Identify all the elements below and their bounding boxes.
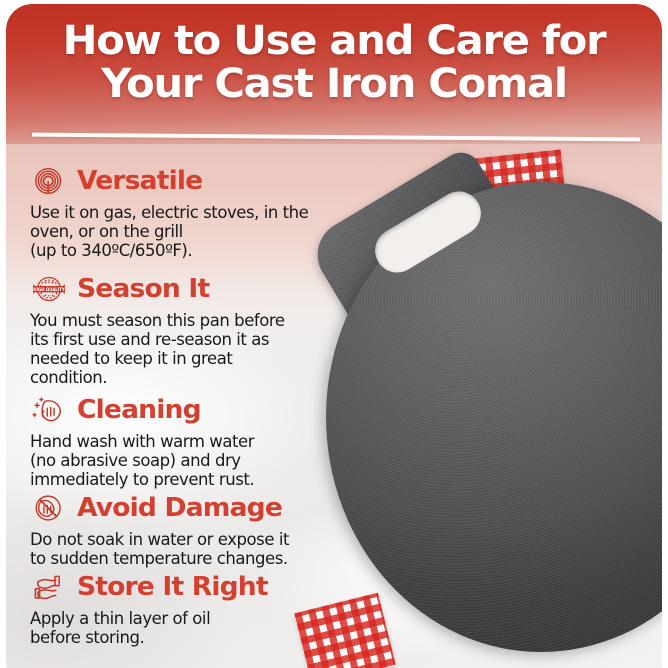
section-versatile: Versatile Use it on gas, electric stoves… bbox=[30, 164, 308, 260]
section-title: Cleaning bbox=[77, 397, 201, 423]
sparkle-hand-cleaning-icon bbox=[30, 393, 68, 427]
section-heading: Store It Right bbox=[30, 570, 264, 604]
page-title-line-1: How to Use and Care for bbox=[6, 20, 662, 63]
section-title: Store It Right bbox=[77, 574, 268, 600]
section-title: Season It bbox=[77, 276, 209, 302]
section-season-it: HIGH QUALITY Season It You must season t… bbox=[30, 272, 285, 387]
section-body: Do not soak in water or expose it to sud… bbox=[30, 530, 289, 568]
section-avoid-damage: Avoid Damage Do not soak in water or exp… bbox=[30, 491, 289, 568]
section-heading: Cleaning bbox=[30, 393, 254, 427]
no-hand-prohibition-icon bbox=[30, 491, 68, 525]
page-title: How to Use and Care for Your Cast Iron C… bbox=[6, 20, 662, 106]
section-heading: Versatile bbox=[30, 164, 308, 198]
section-cleaning: Cleaning Hand wash with warm water (no a… bbox=[30, 393, 254, 489]
stove-burner-icon bbox=[30, 164, 68, 198]
section-body: Use it on gas, electric stoves, in the o… bbox=[30, 203, 308, 260]
section-body: Apply a thin layer of oil before storing… bbox=[30, 609, 264, 647]
section-heading: Avoid Damage bbox=[30, 491, 289, 525]
header-banner: How to Use and Care for Your Cast Iron C… bbox=[6, 4, 662, 144]
page-title-line-2: Your Cast Iron Comal bbox=[6, 63, 662, 106]
stacked-hands-storage-icon bbox=[30, 570, 68, 604]
section-store-it-right: Store It Right Apply a thin layer of oil… bbox=[30, 570, 264, 647]
badge-text: HIGH QUALITY bbox=[33, 287, 65, 292]
section-heading: HIGH QUALITY Season It bbox=[30, 272, 285, 306]
section-title: Versatile bbox=[77, 168, 202, 194]
section-body: You must season this pan before its firs… bbox=[30, 311, 285, 387]
high-quality-badge-icon: HIGH QUALITY bbox=[30, 272, 68, 306]
section-body: Hand wash with warm water (no abrasive s… bbox=[30, 432, 254, 489]
section-title: Avoid Damage bbox=[77, 495, 282, 521]
infographic-card: How to Use and Care for Your Cast Iron C… bbox=[6, 4, 662, 668]
